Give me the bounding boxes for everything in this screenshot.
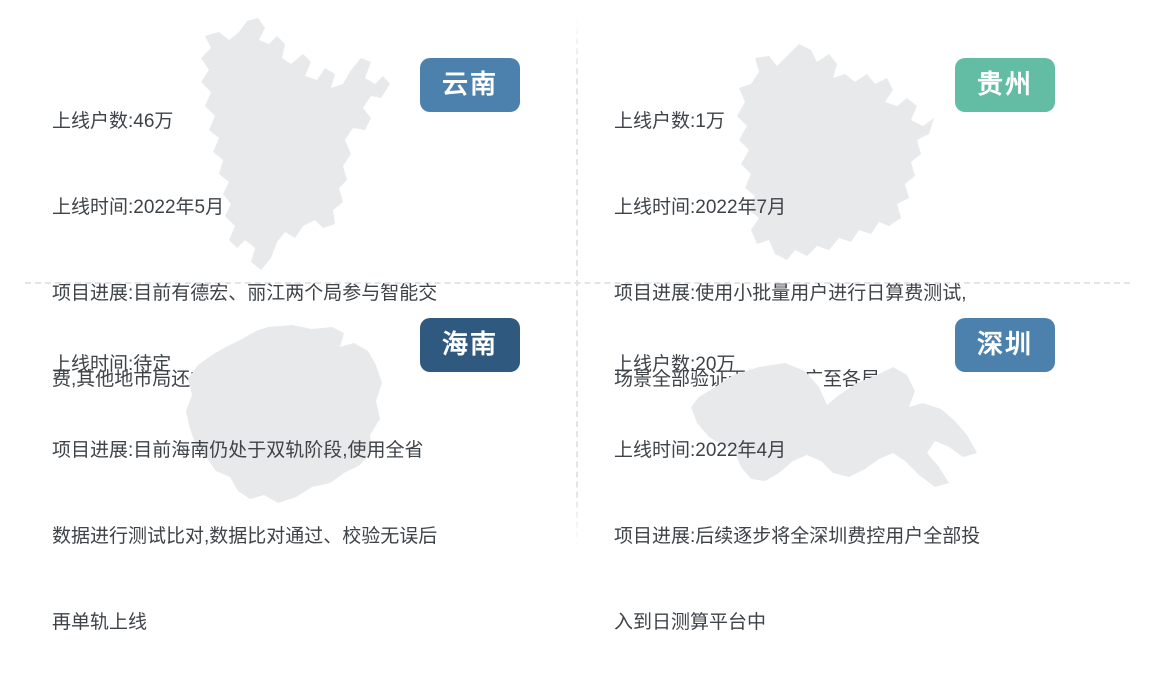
province-card-yunnan: 云南 上线户数:46万 上线时间:2022年5月 项目进展:目前有德宏、丽江两个… [0,0,577,283]
shenzhen-info-block: 上线户数:20万 上线时间:2022年4月 项目进展:后续逐步将全深圳费控用户全… [614,300,1079,687]
province-card-guizhou: 贵州 上线户数:1万 上线时间:2022年7月 项目进展:使用小批量用户进行日算… [577,0,1154,283]
yunnan-launch-time-line: 上线时间:2022年5月 [52,186,517,229]
shenzhen-progress-line-1: 项目进展:后续逐步将全深圳费控用户全部投 [614,515,1079,558]
province-card-hainan: 海南 上线时间:待定 项目进展:目前海南仍处于双轨阶段,使用全省 数据进行测试比… [0,283,577,566]
province-card-shenzhen: 深圳 上线户数:20万 上线时间:2022年4月 项目进展:后续逐步将全深圳费控… [577,283,1154,566]
shenzhen-online-users-line: 上线户数:20万 [614,343,1079,386]
shenzhen-launch-time-line: 上线时间:2022年4月 [614,429,1079,472]
province-status-board: 云南 上线户数:46万 上线时间:2022年5月 项目进展:目前有德宏、丽江两个… [0,0,1154,566]
hainan-launch-time-line: 上线时间:待定 [52,343,522,386]
yunnan-online-users-line: 上线户数:46万 [52,100,517,143]
guizhou-launch-time-line: 上线时间:2022年7月 [614,186,1074,229]
guizhou-online-users-line: 上线户数:1万 [614,100,1074,143]
hainan-progress-line-1: 项目进展:目前海南仍处于双轨阶段,使用全省 [52,429,522,472]
hainan-progress-line-2: 数据进行测试比对,数据比对通过、校验无误后 [52,515,522,558]
shenzhen-progress-line-2: 入到日测算平台中 [614,601,1079,644]
hainan-info-block: 上线时间:待定 项目进展:目前海南仍处于双轨阶段,使用全省 数据进行测试比对,数… [52,300,522,687]
hainan-progress-line-3: 再单轨上线 [52,601,522,644]
